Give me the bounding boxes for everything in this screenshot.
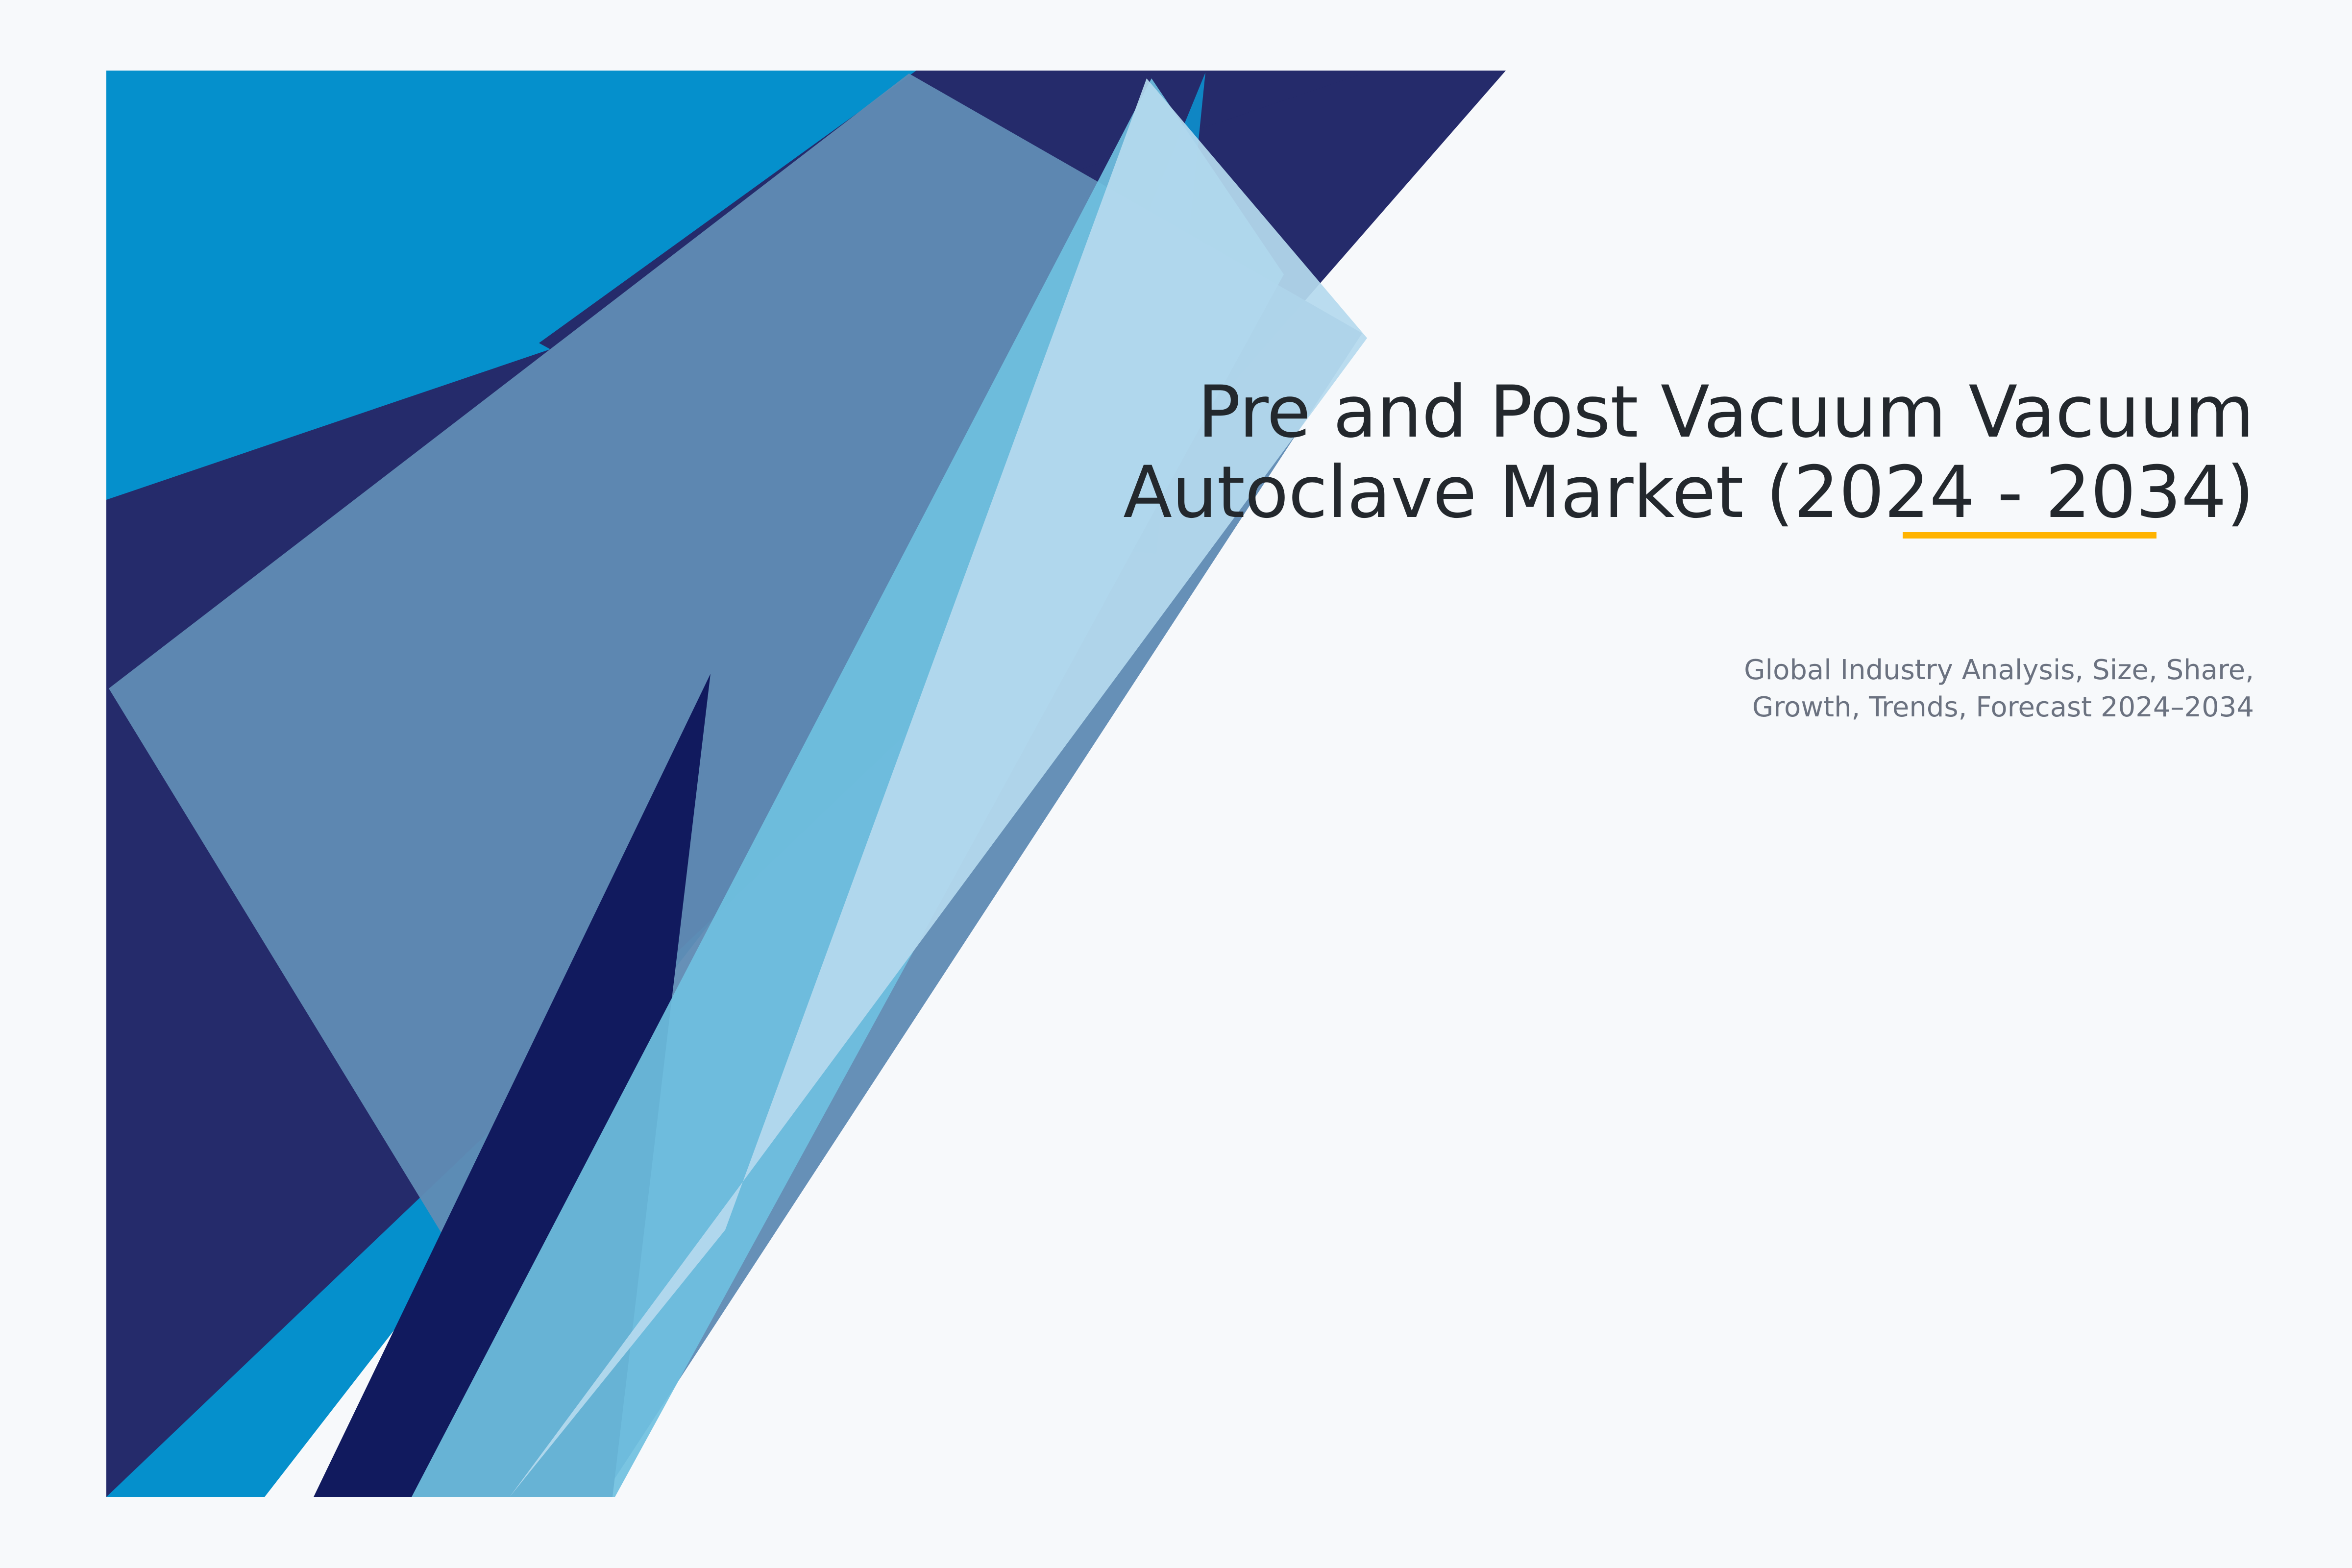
sky-blue-diagonal-band [412,78,1284,1497]
cover-text-block: Pre and Post Vacuum Vacuum Autoclave Mar… [1078,372,2254,533]
pale-blue-translucent-wedge [510,78,1367,1497]
page-title: Pre and Post Vacuum Vacuum Autoclave Mar… [1078,372,2254,533]
navy-left-column [106,71,1506,1497]
page-subtitle: Global Industry Analysis, Size, Share, G… [1274,652,2254,726]
report-cover-page: Pre and Post Vacuum Vacuum Autoclave Mar… [0,0,2352,1568]
steel-blue-translucent-quad [109,73,1362,1497]
cyan-base-panel [106,71,1372,1497]
abstract-polygon-artwork [0,0,2352,1568]
deep-navy-spike [314,674,710,1497]
